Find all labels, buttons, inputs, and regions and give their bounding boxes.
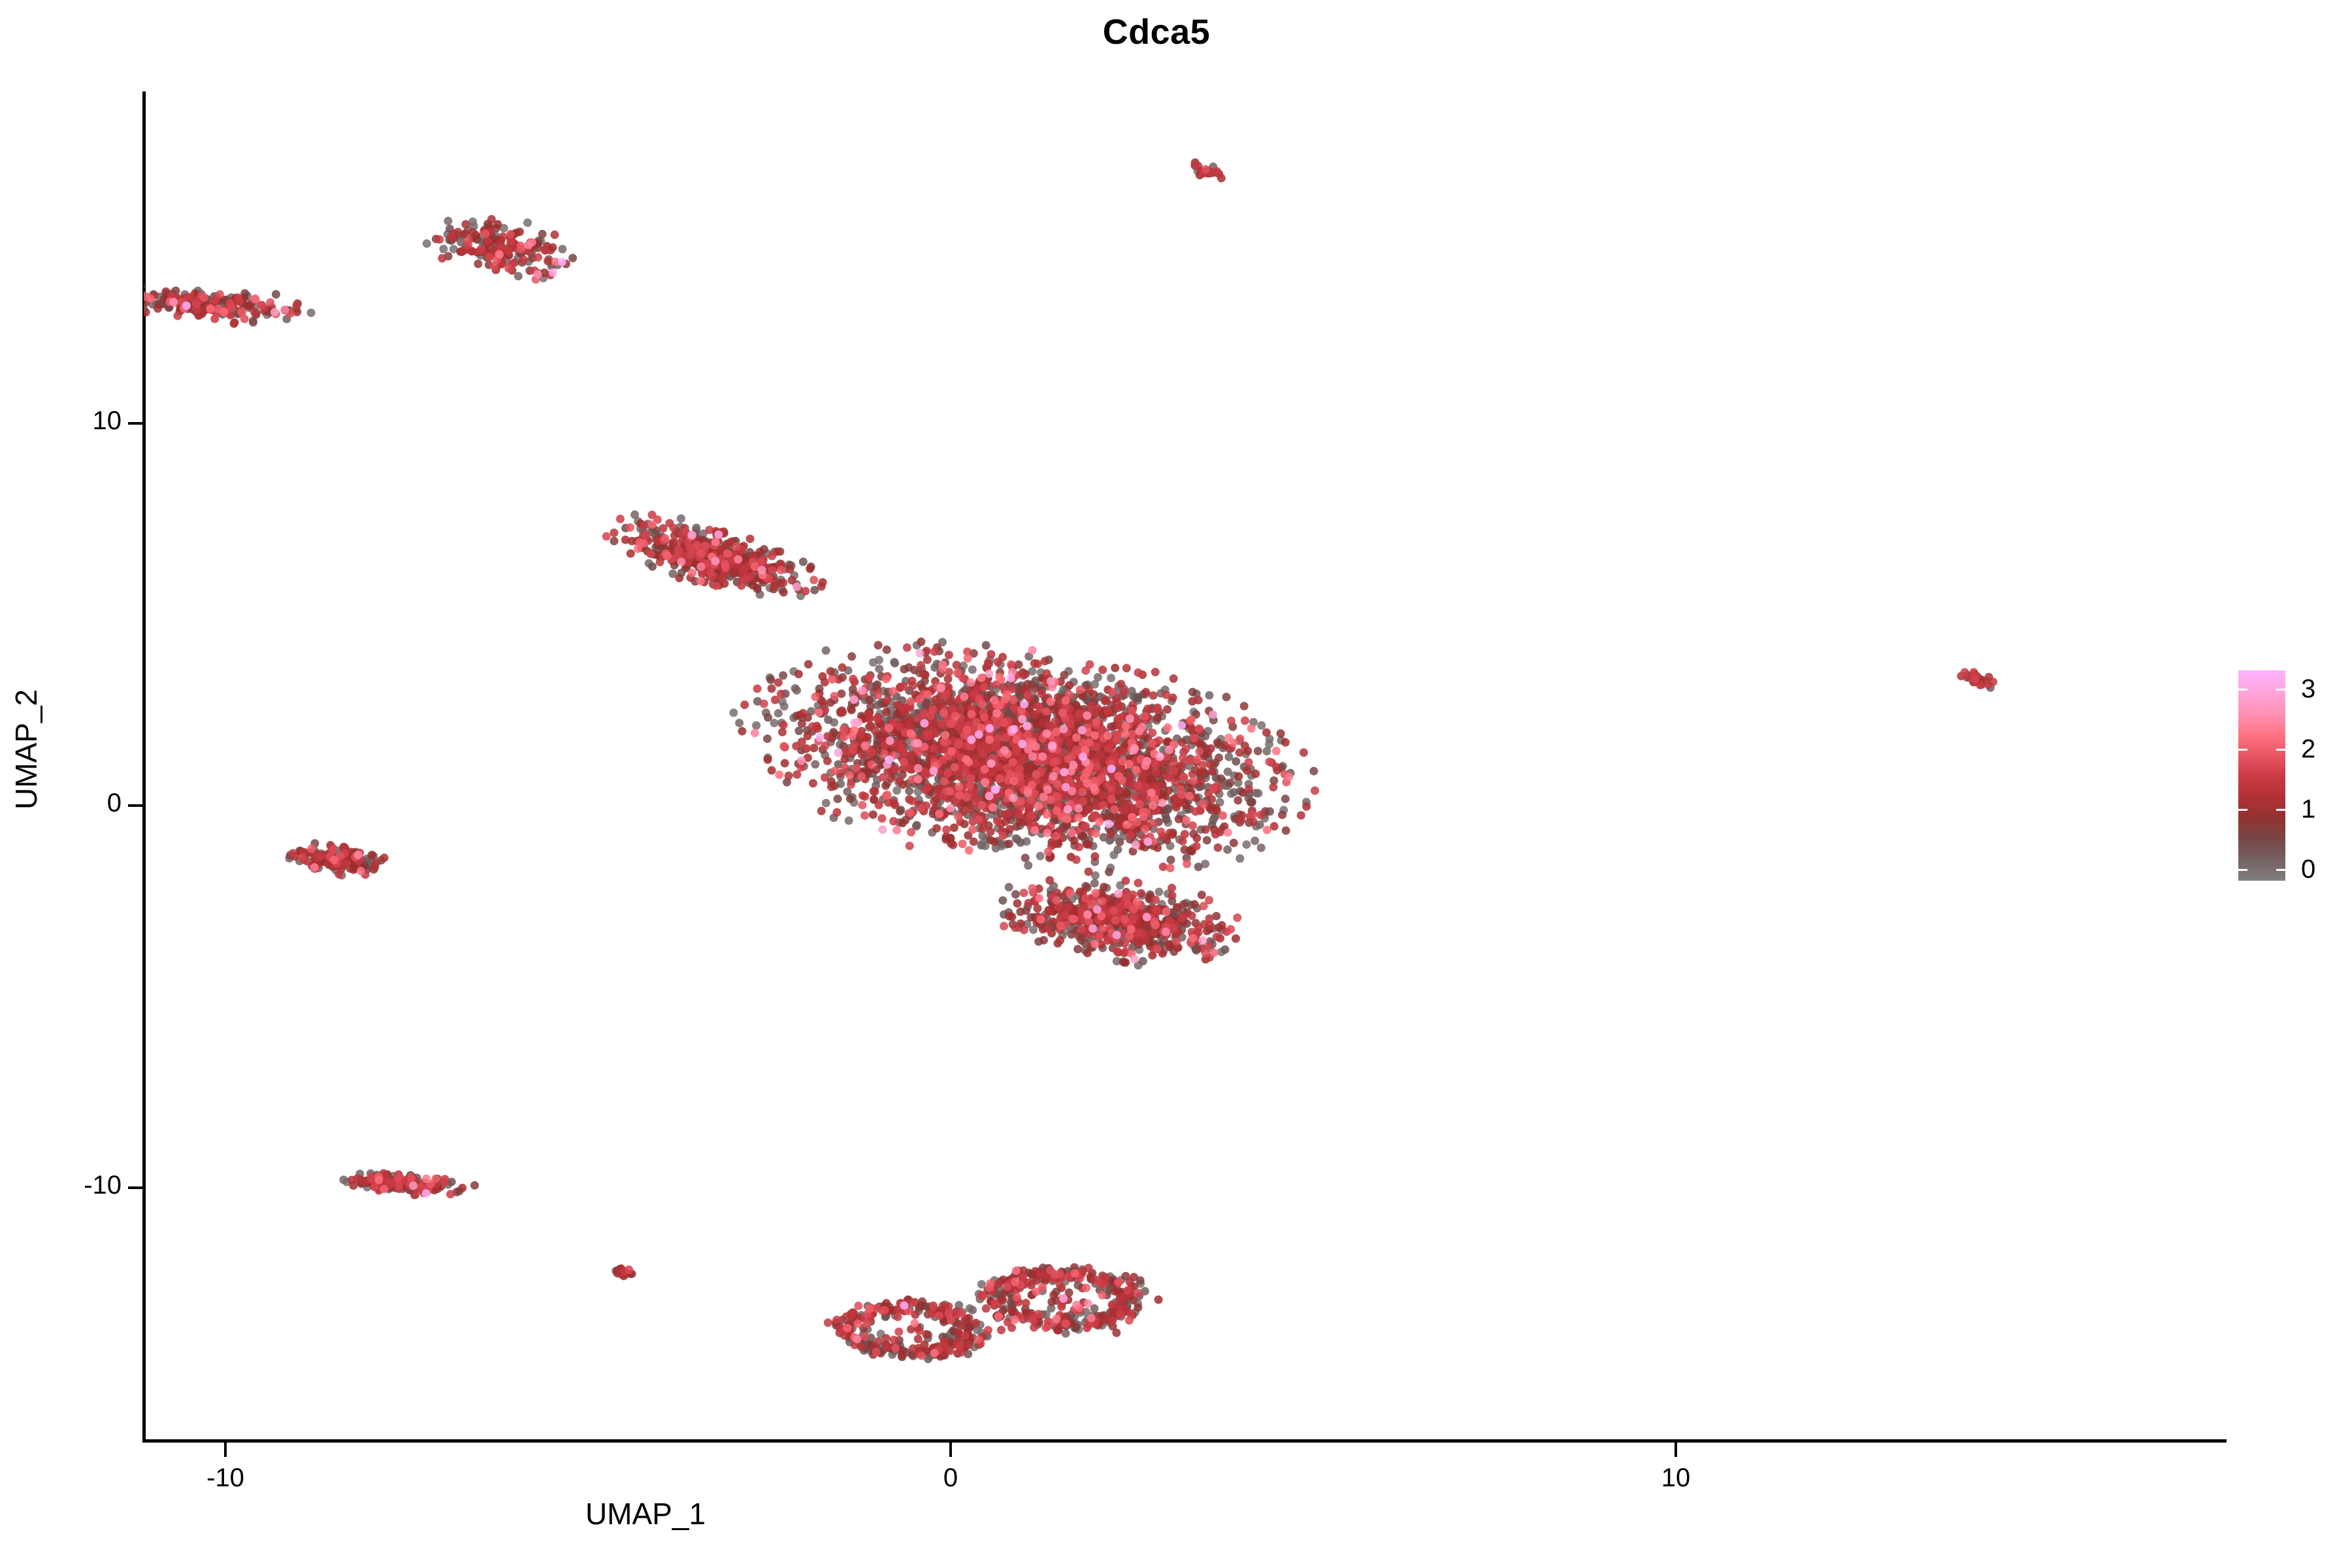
color-legend: 0123 xyxy=(2238,670,2285,881)
y-tick-mark xyxy=(128,422,142,425)
plot-panel xyxy=(144,91,2228,1441)
legend-tick-label: 0 xyxy=(2301,855,2315,885)
legend-tick-mark xyxy=(2276,809,2285,811)
legend-tick-mark xyxy=(2238,809,2247,811)
umap-feature-plot: Cdca5 -10010-10010 UMAP_1 UMAP_2 0123 xyxy=(0,0,2352,1568)
legend-tick-label: 3 xyxy=(2301,675,2315,704)
page-title: Cdca5 xyxy=(0,12,2332,52)
legend-tick-label: 2 xyxy=(2301,735,2315,764)
x-axis-label: UMAP_1 xyxy=(0,1496,1821,1531)
x-tick-label: 10 xyxy=(1610,1463,1741,1493)
y-tick-label: 10 xyxy=(24,406,122,436)
x-tick-label: -10 xyxy=(160,1463,291,1493)
x-tick-mark xyxy=(949,1443,952,1457)
y-tick-mark xyxy=(128,804,142,807)
y-tick-mark xyxy=(128,1186,142,1189)
y-tick-label: -10 xyxy=(24,1171,122,1200)
legend-tick-mark xyxy=(2276,689,2285,691)
legend-colorbar[interactable] xyxy=(2238,670,2285,881)
legend-tick-mark xyxy=(2238,689,2247,691)
legend-tick-mark xyxy=(2276,869,2285,871)
x-tick-mark xyxy=(224,1443,227,1457)
legend-tick-mark xyxy=(2238,749,2247,751)
x-tick-mark xyxy=(1674,1443,1677,1457)
y-axis-label: UMAP_2 xyxy=(8,651,44,847)
legend-tick-mark xyxy=(2276,749,2285,751)
scatter-points-layer xyxy=(144,91,2228,1441)
legend-tick-label: 1 xyxy=(2301,795,2315,825)
x-tick-label: 0 xyxy=(885,1463,1016,1493)
legend-tick-mark xyxy=(2238,869,2247,871)
